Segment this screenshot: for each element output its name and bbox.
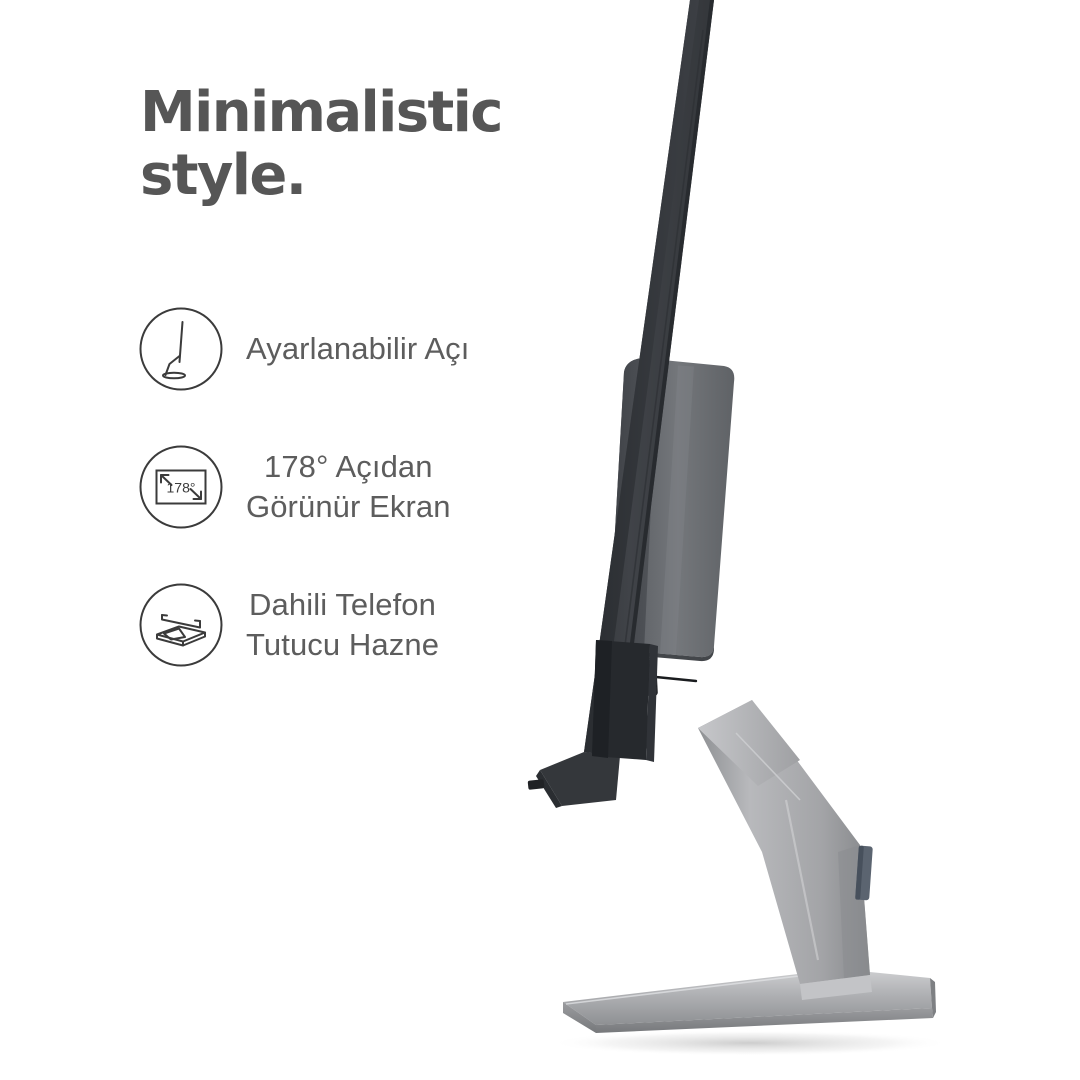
- product-feature-page: Minimalistic style. Ayarlanabilir Açı: [0, 0, 1080, 1080]
- stand-arm: [698, 700, 873, 1000]
- viewing-angle-value: 178°: [167, 480, 196, 496]
- stand-base: [563, 969, 936, 1033]
- hinge-connector-block: [592, 640, 658, 762]
- phone-holder-tray-icon: [138, 582, 224, 668]
- feature-label: 178° Açıdan Görünür Ekran: [246, 447, 451, 526]
- feature-label: Dahili Telefon Tutucu Hazne: [246, 585, 439, 664]
- monitor-side-profile-icon: [138, 306, 224, 392]
- product-image: [500, 0, 1080, 1080]
- viewing-angle-rectangle-icon: 178°: [138, 444, 224, 530]
- panel-bottom-tab: [528, 752, 620, 808]
- base-shadow: [550, 1030, 950, 1056]
- feature-label: Ayarlanabilir Açı: [246, 329, 469, 369]
